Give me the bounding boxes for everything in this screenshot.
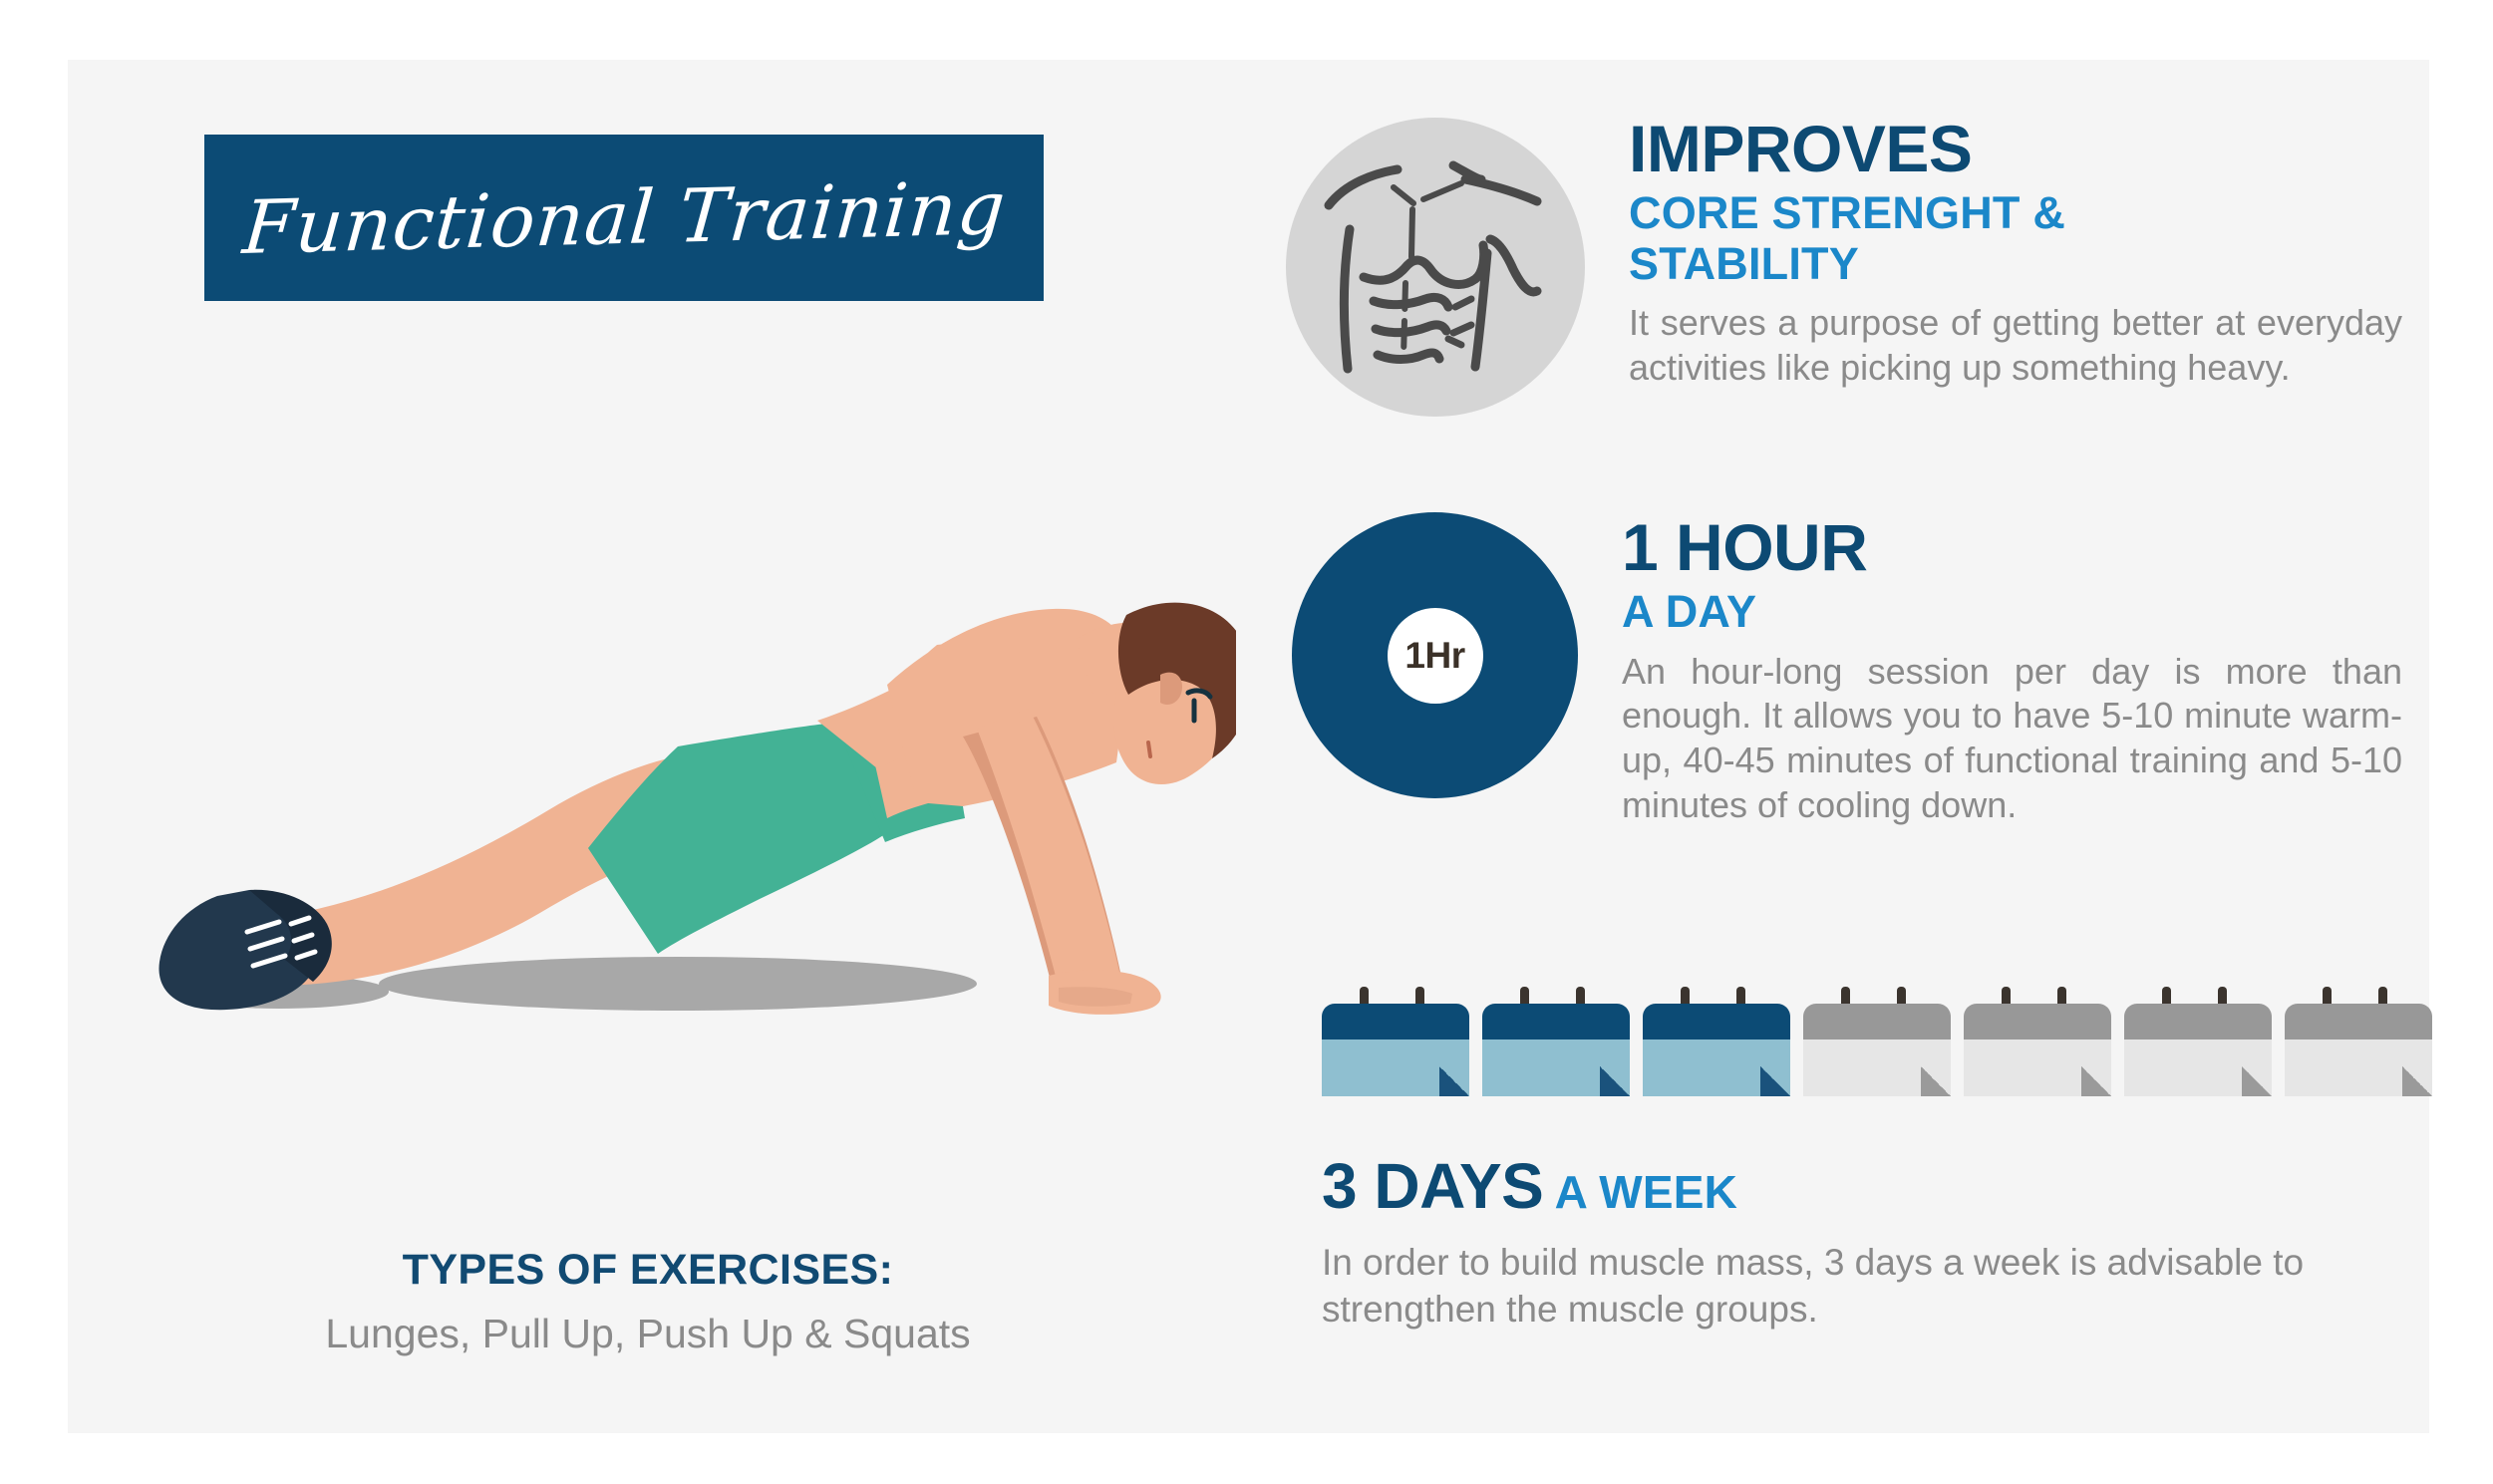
hour-badge: 1Hr (1388, 608, 1483, 704)
abs-torso-icon (1286, 118, 1585, 417)
fact-core-headline: IMPROVES (1629, 116, 2402, 182)
fact-core-strength-text: IMPROVES CORE STRENGHT & STABILITY It se… (1629, 110, 2402, 390)
fact-hour-subheadline: A DAY (1622, 587, 2402, 637)
calendar-day-3 (1643, 987, 1790, 1096)
types-of-exercises-block: TYPES OF EXERCISES: Lunges, Pull Up, Pus… (150, 1246, 1146, 1357)
hour-badge-label: 1Hr (1404, 635, 1464, 677)
fact-core-strength: IMPROVES CORE STRENGHT & STABILITY It se… (1286, 110, 2402, 417)
fact-core-subheadline: CORE STRENGHT & STABILITY (1629, 188, 2402, 289)
calendar-day-2 (1482, 987, 1630, 1096)
fact-one-hour: 1Hr 1 HOUR A DAY An hour-long session pe… (1286, 508, 2402, 827)
plank-illustration (120, 553, 1236, 1022)
facts-column: IMPROVES CORE STRENGHT & STABILITY It se… (1286, 110, 2402, 827)
fact-days-headline-light: A WEEK (1543, 1166, 1737, 1218)
fact-hour-body: An hour-long session per day is more tha… (1622, 650, 2402, 828)
fact-core-body: It serves a purpose of getting better at… (1629, 301, 2402, 390)
fact-core-subheadline-line1: CORE STRENGHT & (1629, 187, 2065, 238)
fact-days-body: In order to build muscle mass, 3 days a … (1322, 1240, 2408, 1333)
title-banner: Functional Training (204, 135, 1044, 301)
fact-days-headline: 3 DAYS A WEEK (1322, 1154, 2408, 1218)
hour-donut-icon: 1Hr (1292, 512, 1578, 798)
types-of-exercises-heading: TYPES OF EXERCISES: (150, 1246, 1146, 1295)
fact-hour-headline: 1 HOUR (1622, 514, 2402, 581)
calendar-day-6 (2124, 987, 2272, 1096)
calendar-day-5 (1964, 987, 2111, 1096)
fact-days-headline-strong: 3 DAYS (1322, 1150, 1543, 1222)
page-title: Functional Training (240, 171, 1009, 265)
calendar-day-1 (1322, 987, 1469, 1096)
calendar-strip-icon (1322, 987, 2432, 1096)
fact-three-days: 3 DAYS A WEEK In order to build muscle m… (1322, 1154, 2408, 1333)
types-of-exercises-list: Lunges, Pull Up, Push Up & Squats (150, 1311, 1146, 1357)
infographic-canvas: Functional Training (0, 0, 2493, 1484)
calendar-day-7 (2285, 987, 2432, 1096)
fact-core-subheadline-line2: STABILITY (1629, 238, 1859, 289)
calendar-day-4 (1803, 987, 1951, 1096)
fact-one-hour-text: 1 HOUR A DAY An hour-long session per da… (1622, 508, 2402, 827)
